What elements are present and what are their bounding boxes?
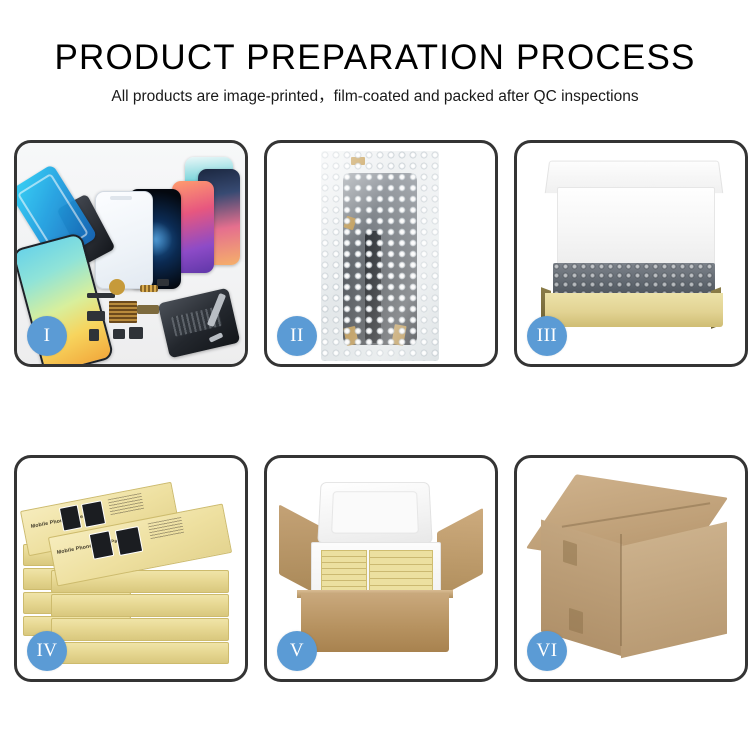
step-panel-3[interactable]: III [514,140,748,367]
process-step-grid: I II III [14,140,736,682]
step-badge-3: III [527,316,567,356]
page-subtitle: All products are image-printed，film-coat… [0,88,750,107]
yellow-box-front-icon [545,293,723,327]
stacked-box-front-3 [51,594,229,617]
stacked-box-front-4 [51,618,229,641]
carton-right-face [621,522,727,658]
part-coil-icon [109,279,125,295]
plastic-sheen [321,151,439,361]
part-ribbon-icon [140,285,158,292]
part-chipboard-icon [109,301,137,323]
foam-sheet-icon [557,187,715,267]
step-panel-1[interactable]: I [14,140,248,367]
carton-tape-left [563,540,577,566]
step-panel-6[interactable]: VI [514,455,748,682]
page-title: PRODUCT PREPARATION PROCESS [0,38,750,78]
part-strip-icon [87,293,115,298]
part-flex-cable-icon [137,305,159,314]
part-clip-icon [89,329,99,341]
part-connector-icon [157,279,169,286]
step-badge-5: V [277,631,317,671]
step-badge-2: II [277,316,317,356]
yellow-boxes-right-lines [369,550,433,594]
box-thumb-rear-b [81,500,106,528]
step-badge-1: I [27,316,67,356]
foam-lid-icon [317,482,432,544]
part-camera-icon [129,327,143,339]
carton-front-icon [301,594,449,652]
box-thumb-front-b [115,526,144,556]
carton-vertical-edge [620,534,622,646]
step-badge-6: VI [527,631,567,671]
part-bracket-icon [87,311,105,321]
page-header: PRODUCT PREPARATION PROCESS All products… [0,0,750,107]
step-panel-5[interactable]: V [264,455,498,682]
bubble-wrap-bag-icon [321,151,439,361]
stacked-box-front-5 [51,642,229,664]
yellow-boxes-left-icon [321,550,367,594]
carton-flap-right-icon [437,508,483,598]
part-button-icon [113,329,125,339]
step-panel-2[interactable]: II [264,140,498,367]
step-badge-4: IV [27,631,67,671]
step-panel-4[interactable]: Mobile Phone Spare Parts Mobile Phone Sp… [14,455,248,682]
carton-tape-bottom [569,608,583,634]
